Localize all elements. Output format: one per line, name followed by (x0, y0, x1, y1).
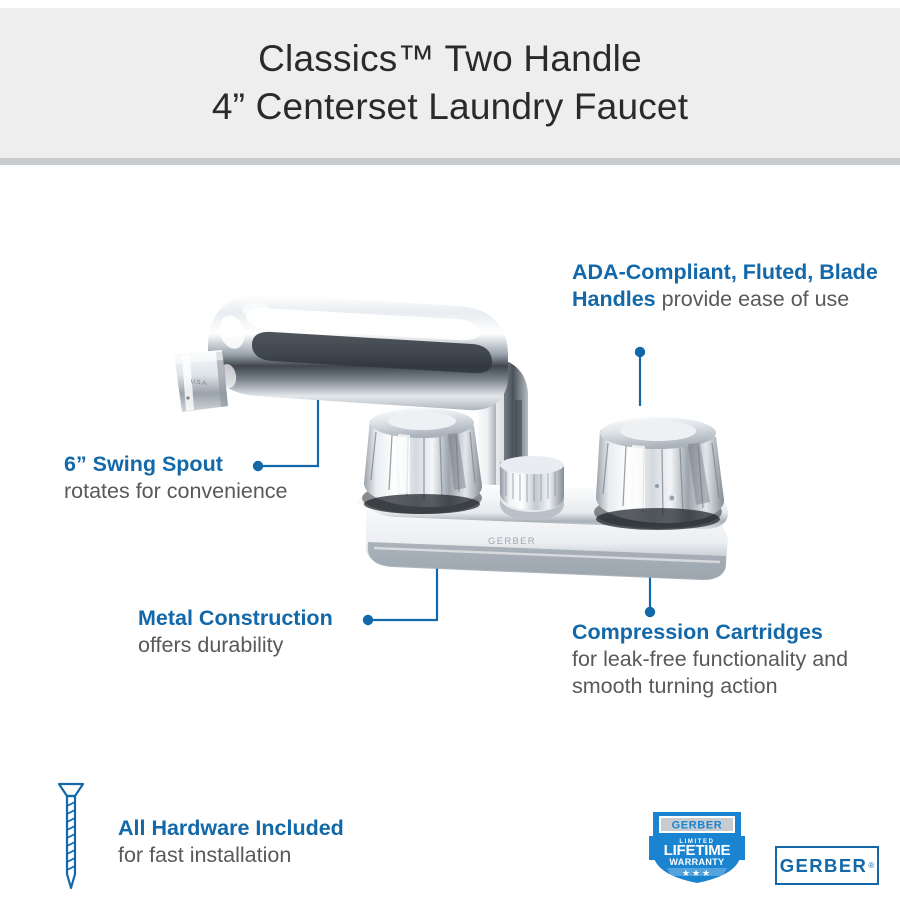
header-band: Classics™ Two Handle 4” Centerset Laundr… (0, 8, 900, 158)
gerber-logo: GERBER® (775, 846, 879, 885)
callout-spout-rest: rotates for convenience (64, 478, 314, 505)
faucet-handle-left (362, 408, 482, 514)
callout-cartridges: Compression Cartridges for leak-free fun… (572, 619, 887, 700)
gerber-logo-text: GERBER (780, 855, 868, 877)
faucet-spout-tip: U.S.A. (174, 350, 228, 412)
callout-metal-rest: offers durability (138, 632, 368, 659)
product-image-faucet: U.S.A. GERBER (160, 280, 760, 590)
callout-handles-rest: provide ease of use (656, 287, 850, 311)
callout-hardware-lead: All Hardware Included (118, 815, 398, 842)
page-title-line-1: Classics™ Two Handle (258, 35, 642, 83)
callout-cartridges-rest: for leak-free functionality and smooth t… (572, 646, 887, 700)
badge-warranty: WARRANTY (669, 857, 724, 867)
callout-hardware-rest: for fast installation (118, 842, 398, 869)
faucet-handle-right (594, 417, 724, 530)
gerber-logo-registered: ® (868, 861, 874, 870)
faucet-spout-arm (208, 294, 508, 410)
base-brand-emboss: GERBER (488, 536, 536, 547)
page-title-line-2: 4” Centerset Laundry Faucet (212, 83, 688, 131)
callout-spout: 6” Swing Spout rotates for convenience (64, 451, 314, 505)
badge-stars: ★★★ (682, 869, 712, 879)
lifetime-warranty-badge: GERBER LIMITED LIFETIME WARRANTY ★★★ (645, 806, 749, 886)
badge-brand: GERBER (672, 820, 723, 832)
callout-hardware: All Hardware Included for fast installat… (118, 815, 398, 869)
infographic-page: Classics™ Two Handle 4” Centerset Laundr… (0, 0, 900, 900)
callout-handles: ADA-Compliant, Fluted, Blade Handles pro… (572, 259, 882, 313)
screw-icon (54, 782, 88, 892)
callout-metal-lead: Metal Construction (138, 605, 368, 632)
callout-spout-lead: 6” Swing Spout (64, 451, 314, 478)
header-divider (0, 158, 900, 165)
callout-metal: Metal Construction offers durability (138, 605, 368, 659)
callout-cartridges-lead: Compression Cartridges (572, 619, 887, 646)
